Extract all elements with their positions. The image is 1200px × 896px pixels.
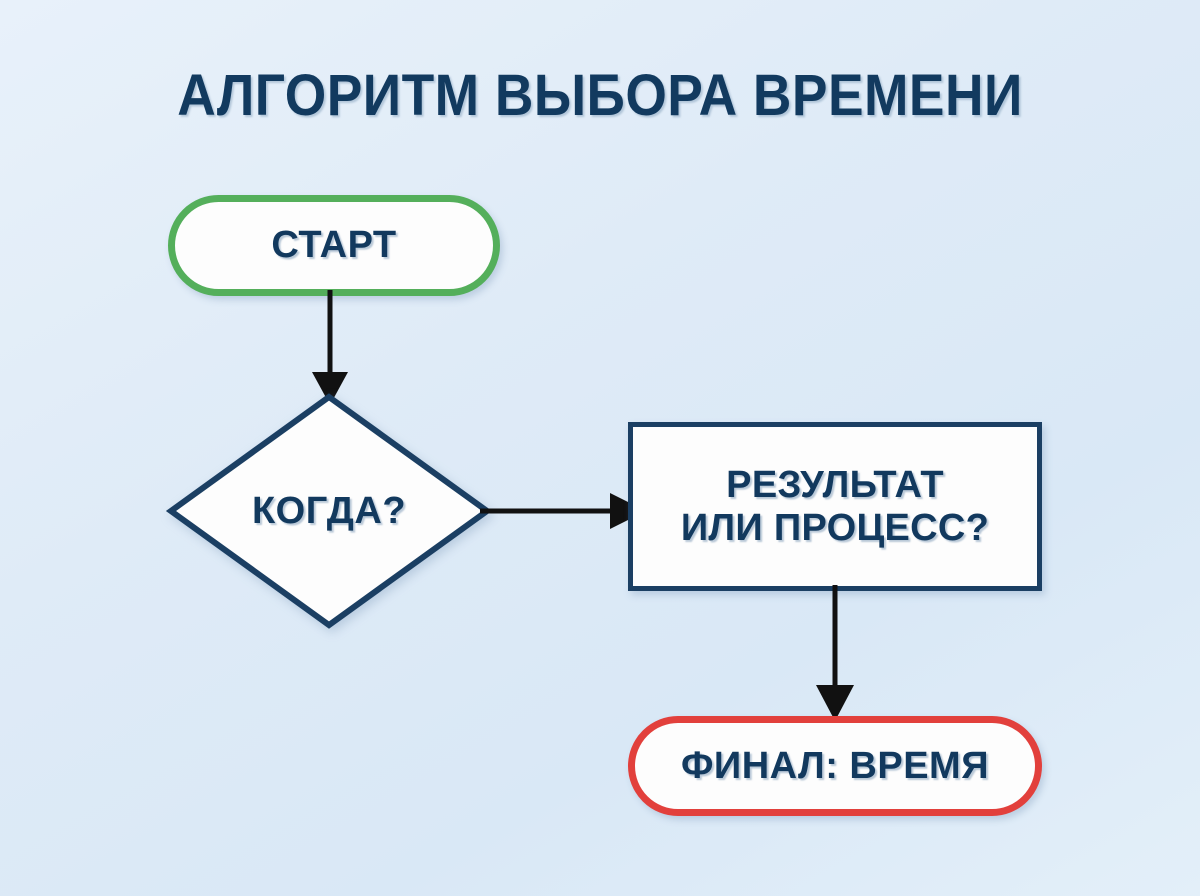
node-decision[interactable]: КОГДА? xyxy=(168,394,490,628)
edge-decision-to-process xyxy=(480,485,650,537)
edge-start-to-decision xyxy=(300,290,360,408)
edge-process-to-final xyxy=(810,585,870,725)
page-title: АЛГОРИТМ ВЫБОРА ВРЕМЕНИ xyxy=(48,62,1152,129)
node-process-label-line-2: ИЛИ ПРОЦЕСС? xyxy=(681,507,989,549)
node-process[interactable]: РЕЗУЛЬТАТ ИЛИ ПРОЦЕСС? xyxy=(628,422,1042,591)
node-final-label: ФИНАЛ: ВРЕМЯ xyxy=(681,745,989,788)
node-final[interactable]: ФИНАЛ: ВРЕМЯ xyxy=(628,716,1042,816)
node-process-label-line-1: РЕЗУЛЬТАТ xyxy=(726,464,944,506)
node-decision-label: КОГДА? xyxy=(168,394,490,628)
node-start[interactable]: СТАРТ xyxy=(168,195,500,296)
diagram-canvas: АЛГОРИТМ ВЫБОРА ВРЕМЕНИ СТАРТ КОГДА? РЕЗ… xyxy=(0,0,1200,896)
node-process-label: РЕЗУЛЬТАТ ИЛИ ПРОЦЕСС? xyxy=(681,464,989,549)
node-start-label: СТАРТ xyxy=(271,224,396,267)
